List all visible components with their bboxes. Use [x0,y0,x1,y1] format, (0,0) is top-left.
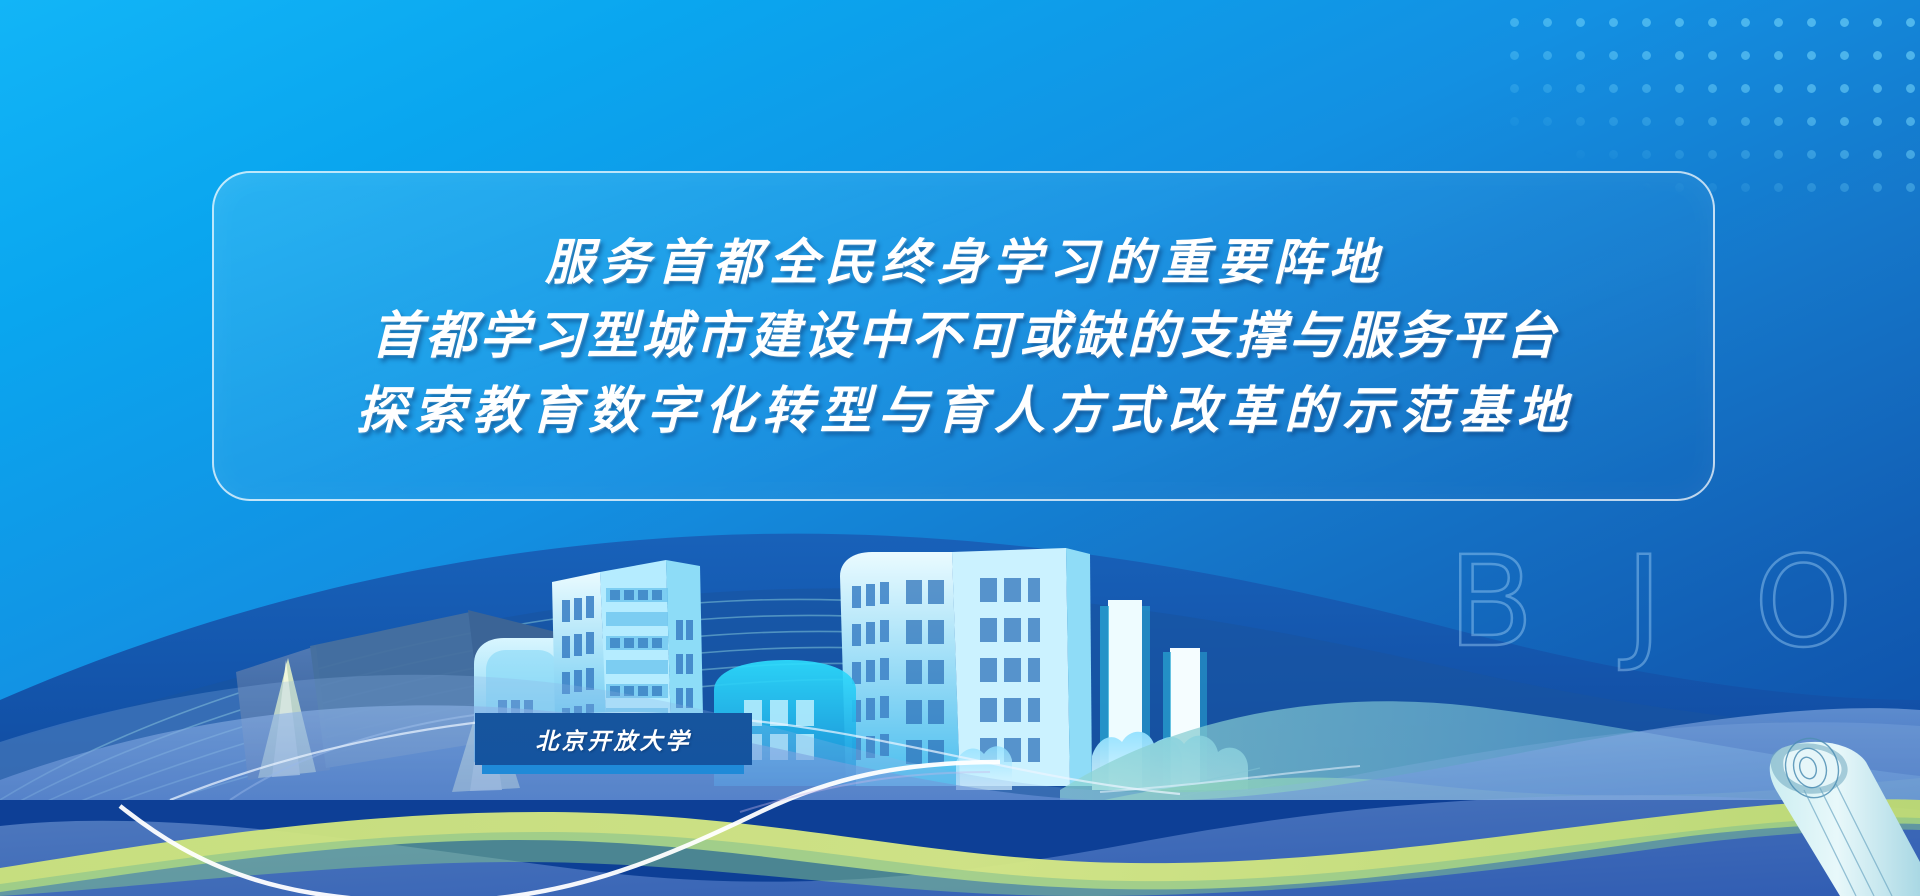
campus-sign-base [482,765,744,774]
campus-name-text: 北京开放大学 [536,722,692,756]
campus-name-sign: 北京开放大学 [475,713,752,765]
poster-canvas: B J O U 服务首都全民终身学习的重要阵地 首都学习型城市建设中不可或缺的支… [0,0,1920,896]
headline-line-1: 服务首都全民终身学习的重要阵地 [545,229,1385,296]
headline-line-2: 首都学习型城市建设中不可或缺的支撑与服务平台 [371,302,1559,371]
headline-line-3: 探索教育数字化转型与育人方式改革的示范基地 [356,377,1574,446]
headline-group: 服务首都全民终身学习的重要阵地 首都学习型城市建设中不可或缺的支撑与服务平台 探… [180,188,1750,488]
